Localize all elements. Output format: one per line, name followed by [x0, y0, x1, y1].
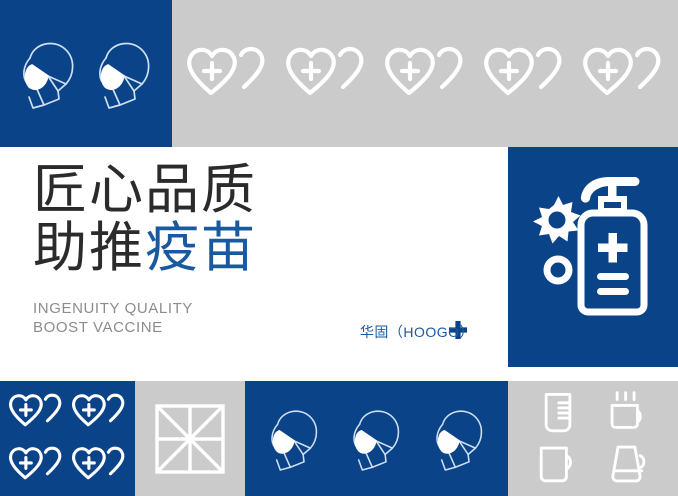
headline-line-2: 助推疫苗	[33, 219, 257, 277]
masked-head-icon	[90, 35, 158, 113]
subtitle-block: INGENUITY QUALITY BOOST VACCINE	[33, 299, 193, 337]
double-heart-plus-icon	[5, 443, 67, 487]
headline-block: 匠心品质 助推疫苗	[33, 161, 257, 277]
double-heart-plus-icon	[181, 43, 273, 105]
masked-head-icon	[345, 403, 407, 475]
virus-icon	[533, 196, 581, 244]
steaming-cup-icon	[607, 390, 651, 436]
double-heart-plus-icon	[68, 390, 130, 434]
double-heart-plus-icon	[280, 43, 372, 105]
headline-line-2-dark: 助推	[33, 216, 145, 279]
sanitizer-bottle-icon	[581, 177, 644, 312]
brand-name: 华固（HOOGO）	[360, 322, 474, 342]
headline-line-2-accent: 疫苗	[145, 216, 257, 279]
double-heart-plus-icon	[478, 43, 570, 105]
poster-canvas: 匠心品质 助推疫苗 INGENUITY QUALITY BOOST VACCIN…	[0, 0, 678, 496]
placeholder-panel	[135, 381, 245, 496]
dot-icon	[544, 255, 573, 284]
bottom-masked-heads-panel	[245, 381, 508, 496]
bottom-hearts-panel	[0, 381, 135, 496]
subtitle-line-1: INGENUITY QUALITY	[33, 299, 193, 318]
labware-panel	[508, 381, 678, 496]
sanitizer-panel	[508, 147, 678, 367]
beaker-icon	[538, 391, 578, 435]
double-heart-plus-icon	[5, 390, 67, 434]
double-heart-plus-icon	[379, 43, 471, 105]
mug-icon	[536, 443, 580, 485]
top-left-masked-heads-panel	[0, 0, 172, 147]
masked-head-icon	[263, 403, 325, 475]
subtitle-line-2: BOOST VACCINE	[33, 318, 193, 337]
masked-head-icon	[428, 403, 490, 475]
headline-line-1: 匠心品质	[33, 161, 257, 219]
masked-head-icon	[14, 35, 82, 113]
image-placeholder-x-icon	[153, 402, 227, 476]
kettle-icon	[606, 442, 652, 486]
double-heart-plus-icon	[68, 443, 130, 487]
top-right-hearts-panel	[172, 0, 678, 147]
headline-panel: 匠心品质 助推疫苗 INGENUITY QUALITY BOOST VACCIN…	[0, 147, 508, 360]
double-heart-plus-icon	[577, 43, 669, 105]
